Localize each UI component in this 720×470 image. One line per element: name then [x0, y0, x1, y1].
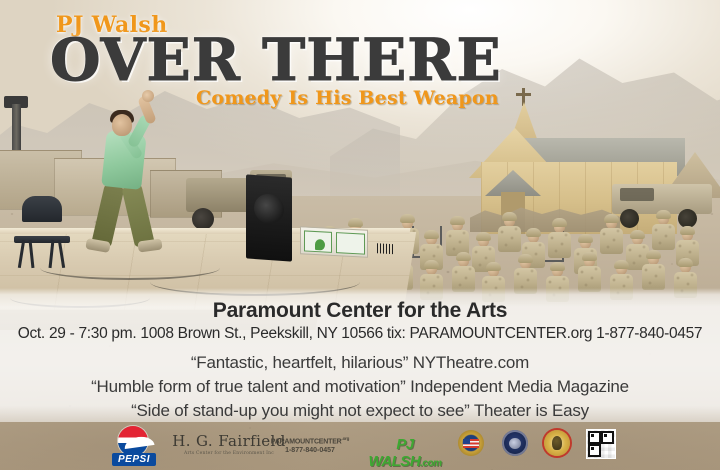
- event-details: Oct. 29 - 7:30 pm. 1008 Brown St., Peeks…: [0, 325, 720, 343]
- soldier: [426, 234, 437, 245]
- soldier: [580, 238, 591, 249]
- performer-leg: [121, 183, 154, 248]
- soldier: [520, 258, 531, 269]
- banner-right-panel: [336, 232, 365, 255]
- banner-leaf-icon: [315, 239, 325, 251]
- soldier: [452, 220, 463, 231]
- chair-back: [22, 196, 62, 222]
- performer-leg: [91, 183, 124, 248]
- chapel-cross-bar: [516, 93, 531, 96]
- performer-head: [112, 114, 132, 136]
- venue-name: Paramount Center for the Arts: [0, 299, 720, 323]
- poster: PJ Walsh OVER THERE Comedy Is His Best W…: [0, 0, 720, 470]
- gold-starburst-seal-icon: [544, 430, 570, 456]
- press-quote: “Side of stand-up you might not expect t…: [0, 401, 720, 421]
- stage-speaker: [246, 174, 292, 261]
- stage-banner: [300, 226, 368, 258]
- qr-finder: [601, 431, 614, 444]
- chair-leg: [49, 240, 55, 268]
- soldier: [458, 256, 469, 267]
- banner-left-panel: [304, 230, 332, 252]
- pepsi-wave: [123, 435, 154, 449]
- soldier: [584, 256, 595, 267]
- performer-shoe: [137, 238, 162, 252]
- banner-barcode: [377, 243, 395, 254]
- tagline: Comedy Is His Best Weapon: [196, 87, 499, 109]
- soldier: [488, 266, 499, 277]
- chapel-cross-icon: [522, 88, 525, 106]
- us-flag-seal-icon: [458, 430, 484, 456]
- sponsor-bar: PEPSI H. G. Fairfield Arts Center for th…: [0, 424, 720, 470]
- performer: [82, 100, 202, 260]
- soldier: [606, 218, 617, 229]
- press-quote: “Fantastic, heartfelt, hilarious” NYThea…: [0, 353, 720, 373]
- soldier: [658, 214, 669, 225]
- soldier: [680, 262, 691, 273]
- soldier: [554, 222, 565, 233]
- soldier: [682, 230, 693, 241]
- press-quote: “Humble form of true talent and motivati…: [0, 377, 720, 397]
- chair-leg: [29, 240, 35, 268]
- paramount-url: PARAMOUNTCENTER.org: [262, 436, 358, 445]
- soldier: [552, 266, 563, 277]
- soldier: [426, 264, 437, 275]
- pepsi-logo: PEPSI: [112, 426, 156, 466]
- chair-leg: [58, 240, 65, 268]
- navy-blue-seal-icon: [502, 430, 528, 456]
- soldier: [648, 254, 659, 265]
- paramount-phone: 1-877-840-0457: [262, 447, 358, 454]
- soldier: [616, 264, 627, 275]
- folding-chair: [10, 196, 72, 266]
- paramount-url-tld: .org: [342, 436, 350, 441]
- pepsi-globe-icon: [118, 426, 148, 456]
- pepsi-wordmark: PEPSI: [112, 453, 156, 466]
- qr-code-icon: [586, 429, 616, 459]
- pjwalsh-site-logo: PJ WALSH.com: [358, 436, 452, 470]
- pjwalsh-site-name: PJ WALSH: [368, 436, 420, 470]
- soldier: [478, 236, 489, 247]
- paramount-contact: PARAMOUNTCENTER.org 1-877-840-0457: [262, 436, 358, 454]
- pjwalsh-site-tld: .com: [420, 458, 441, 469]
- soldier: [528, 232, 539, 243]
- qr-finder: [588, 444, 601, 457]
- qr-finder: [588, 431, 601, 444]
- soldier: [632, 234, 643, 245]
- paramount-url-main: PARAMOUNTCENTER: [271, 438, 342, 445]
- soldier: [504, 216, 515, 227]
- page-title: OVER THERE: [50, 31, 502, 89]
- chair-leg: [18, 240, 25, 268]
